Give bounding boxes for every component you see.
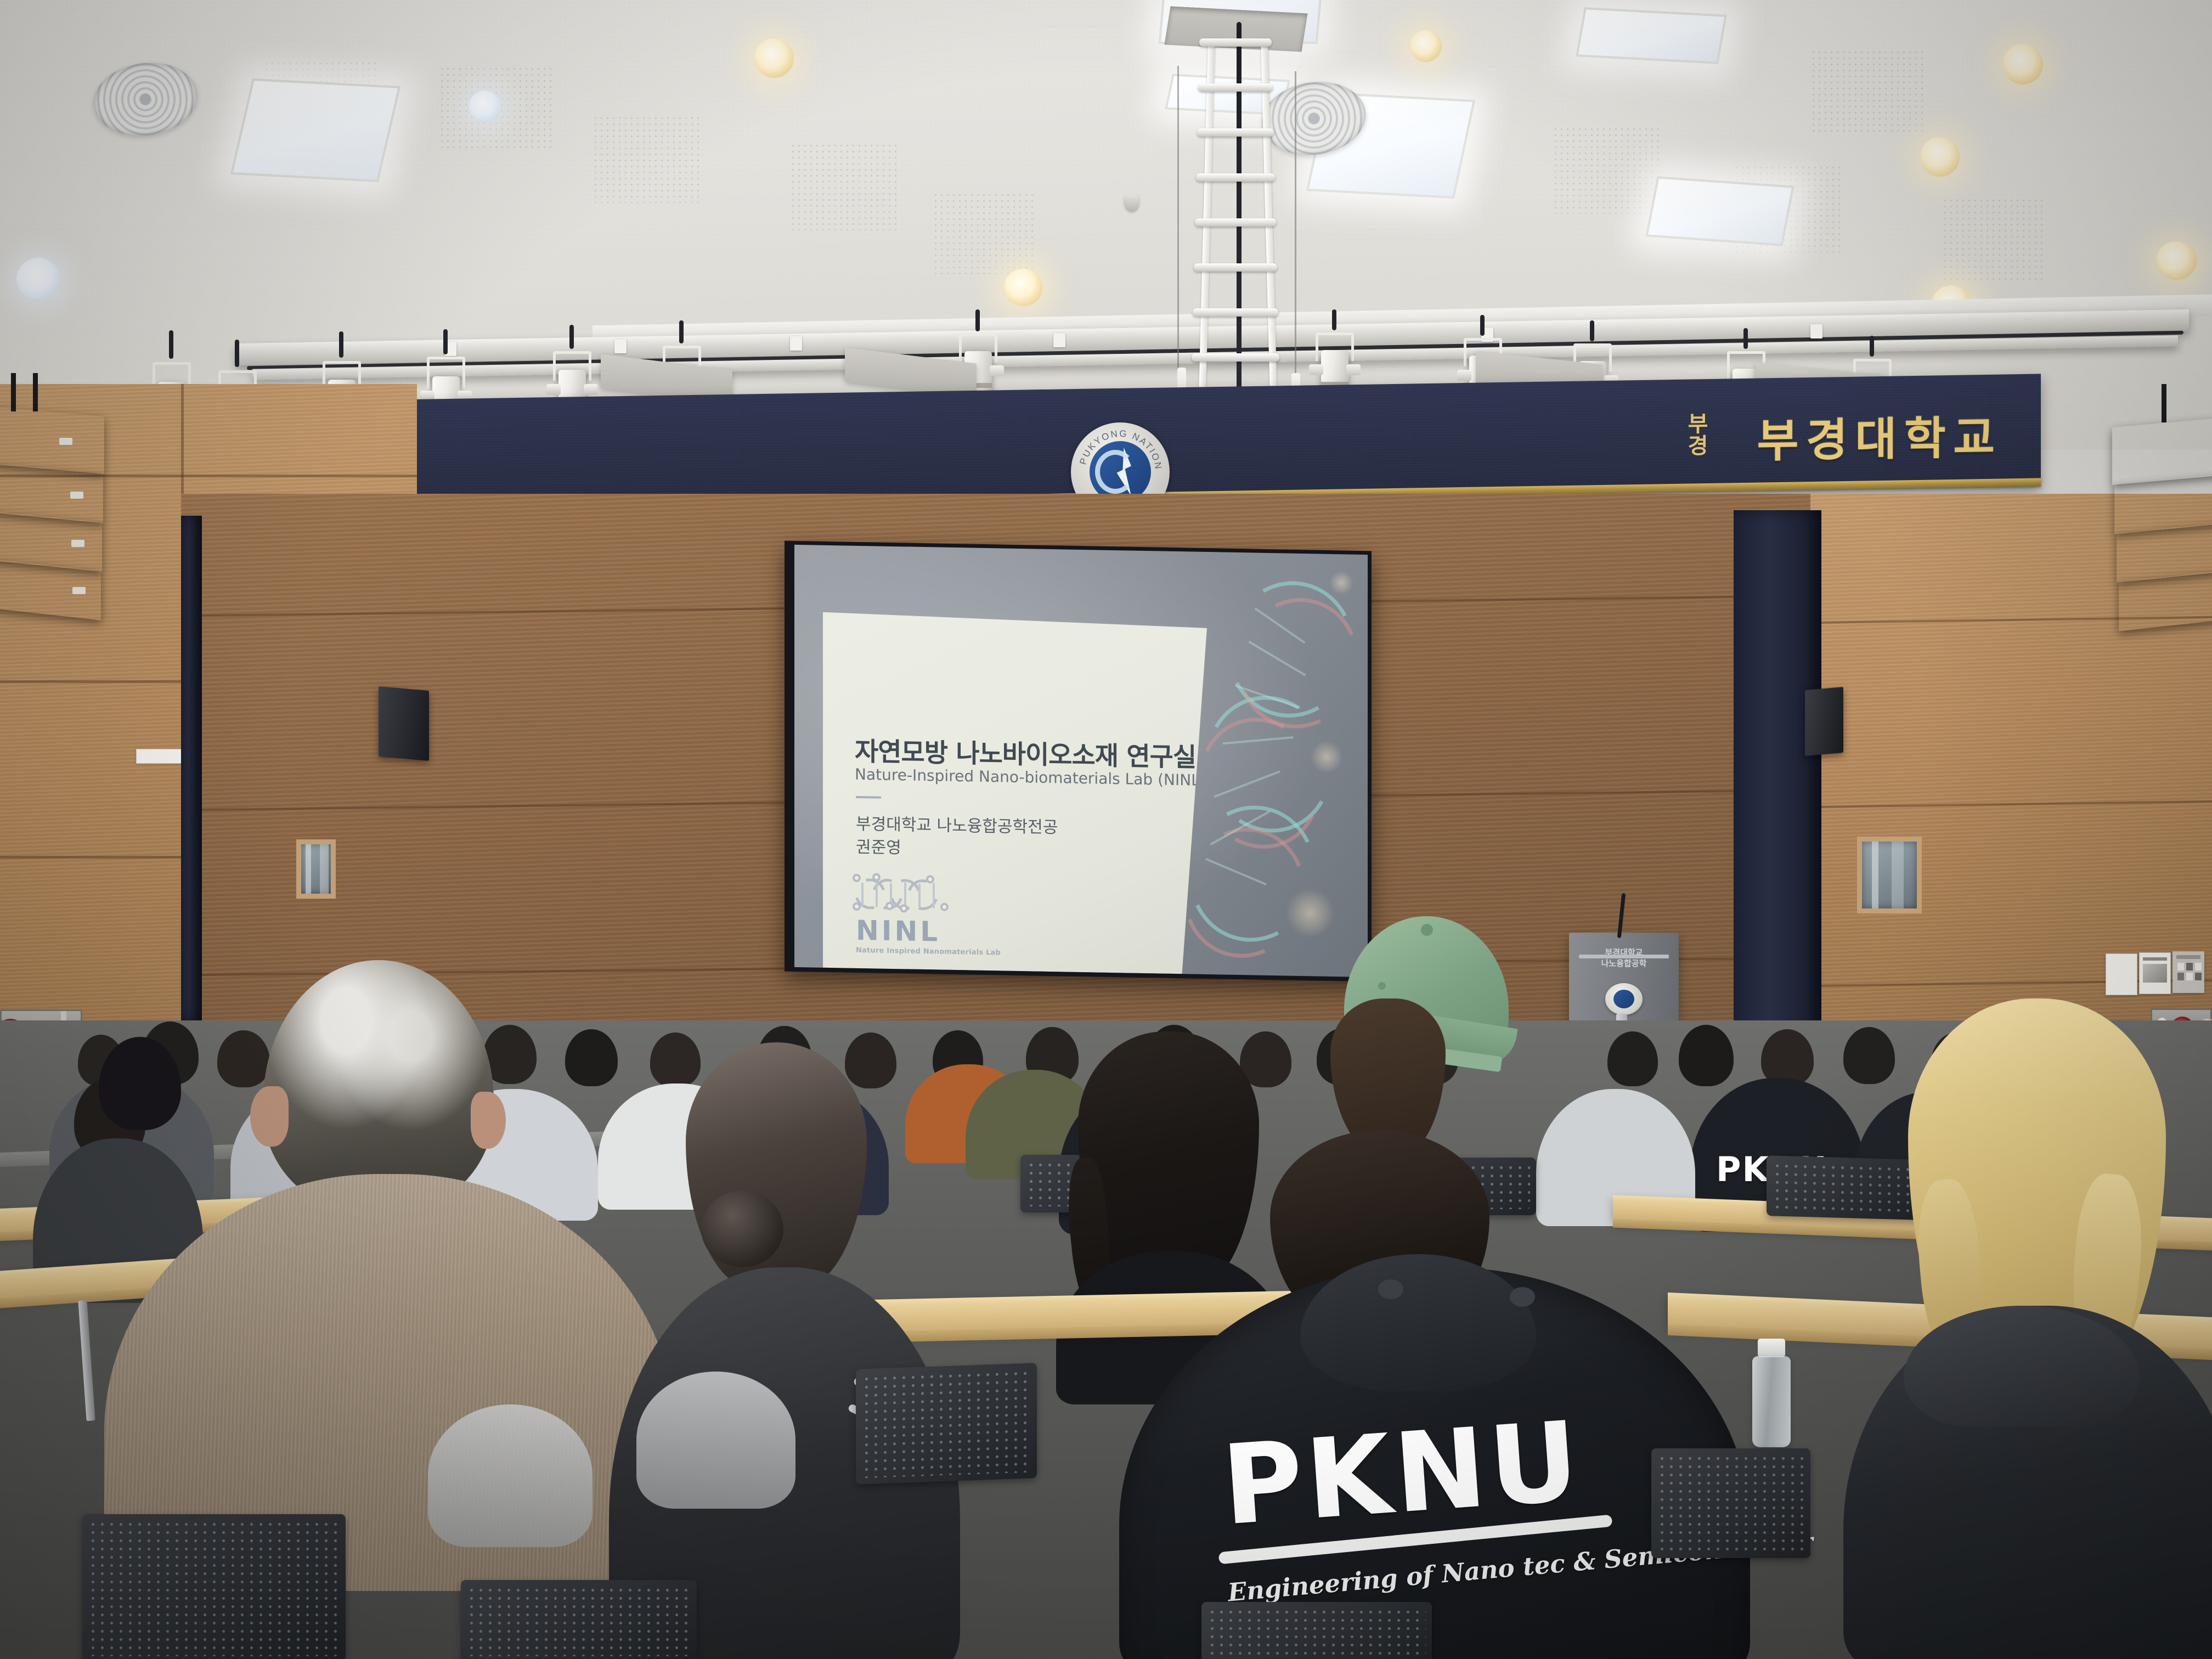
banner-university-mark: 부경: [1686, 412, 1705, 456]
ear: [250, 1086, 289, 1147]
foreground-person-bun: [625, 1042, 933, 1659]
projection-screen: 자연모방 나노바이오소재 연구실 Nature-Inspired Nano-bi…: [794, 545, 1368, 977]
ninl-wordmark: NINL: [856, 915, 940, 948]
bottle-body: [1752, 1356, 1791, 1447]
line-array-speaker-right: [2112, 417, 2212, 658]
chair-base: [636, 1372, 795, 1509]
chair: [856, 1363, 1037, 1485]
chair-base: [428, 1404, 592, 1547]
water-bottle: [1750, 1339, 1792, 1448]
control-room-window-right: [1857, 837, 1922, 913]
dna-helix-icon: [853, 876, 949, 913]
acoustic-panel: [933, 192, 1037, 274]
chair: [1201, 1602, 1432, 1659]
chair: [1651, 1448, 1810, 1558]
cable-clip: [1053, 333, 1065, 347]
acoustic-panel: [1942, 198, 2046, 280]
podium-trim: [1579, 955, 1669, 958]
acoustic-panel: [1810, 49, 1926, 132]
ninl-logo: NINL Nature Inspired Nanomaterials Lab: [849, 876, 975, 961]
scissor-rung: [1195, 218, 1276, 227]
acoustic-panel: [592, 115, 702, 203]
ceiling-downlight: [16, 258, 60, 301]
slide-divider: [856, 796, 881, 799]
ceiling-downlight: [754, 38, 794, 78]
wall-notice-sign: [136, 749, 184, 764]
chair: [461, 1580, 697, 1659]
scissor-rung: [1193, 308, 1278, 317]
acoustic-panel: [1553, 126, 1662, 214]
acoustic-panel: [790, 143, 900, 230]
audience-head: [1607, 1031, 1658, 1086]
svg-text:PUKYONG NATIONAL: PUKYONG NATIONAL: [1071, 422, 1164, 471]
ninl-tagline: Nature Inspired Nanomaterials Lab: [856, 946, 1001, 957]
ear: [471, 1092, 506, 1149]
ceiling-downlight: [1410, 30, 1442, 62]
scissor-rung: [1199, 38, 1272, 47]
hair-bun: [701, 1190, 783, 1267]
wall-speaker-left: [379, 686, 429, 761]
jacket-snap: [1378, 1279, 1403, 1299]
line-array-speaker-left: [0, 406, 104, 647]
ceiling-downlight: [2156, 241, 2197, 280]
scissor-rung: [1192, 353, 1279, 362]
ceiling-panel-light: [230, 78, 400, 182]
foreground-person-blonde: [1882, 998, 2212, 1659]
wall-poster: [2106, 953, 2137, 995]
control-room-window-left: [296, 839, 336, 899]
slide-dna-artwork: [1173, 557, 1368, 977]
scissor-rung: [1196, 173, 1275, 182]
scissor-rung: [1198, 83, 1273, 92]
sprinkler-head: [1125, 195, 1139, 211]
ceiling-downlight: [1920, 137, 1960, 177]
wall-speaker-right: [1805, 687, 1843, 756]
ceiling-panel-light: [1645, 176, 1794, 246]
cable-clip: [1810, 324, 1822, 338]
slide-presenter: 권준영: [856, 833, 901, 858]
stage-curtain-left: [181, 516, 202, 1020]
lecture-hall-photo: 부경대학교 부경 PUKYONG NATIONAL: [0, 0, 2212, 1659]
bottle-cap: [1758, 1339, 1785, 1357]
scissor-rung: [1197, 128, 1274, 137]
stage-curtain-right: [1734, 510, 1821, 1042]
wall-poster: [2172, 951, 2204, 993]
scissor-rung: [1194, 263, 1277, 272]
wall-poster: [2139, 952, 2171, 994]
cable-clip: [790, 336, 802, 351]
audience-head: [1679, 1025, 1734, 1086]
cable-clip: [614, 339, 627, 353]
ceiling-downlight: [1004, 269, 1042, 306]
chair: [82, 1514, 346, 1659]
foreground-person-pknu-jacket: PKNU Engineering of Nano tec & Semicondu…: [1119, 1130, 1750, 1659]
jacket-snap: [1510, 1287, 1535, 1307]
slide-content-panel: 자연모방 나노바이오소재 연구실 Nature-Inspired Nano-bi…: [823, 612, 1207, 974]
banner-university-name: 부경대학교: [1757, 401, 2002, 470]
ceiling-downlight: [469, 91, 501, 122]
ceiling-downlight: [2002, 44, 2043, 84]
ceiling-panel-light: [1576, 7, 1727, 64]
